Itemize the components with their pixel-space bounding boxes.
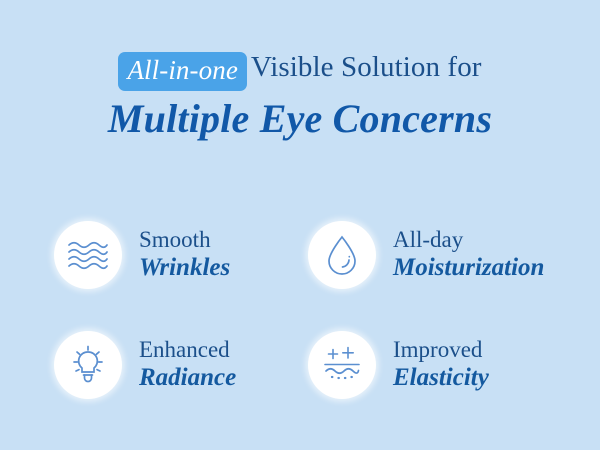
waves-icon — [67, 239, 109, 271]
feature-label-bottom: Elasticity — [393, 365, 489, 391]
headline-block: All-in-oneVisible Solution for Multiple … — [0, 48, 600, 143]
headline-line-2: Multiple Eye Concerns — [0, 95, 600, 143]
feature-label-bottom: Wrinkles — [139, 255, 230, 281]
feature-label-top: Improved — [393, 338, 489, 362]
feature-text-elasticity: Improved Elasticity — [393, 338, 489, 391]
feature-text-radiance: Enhanced Radiance — [139, 338, 236, 391]
feature-item-radiance: Enhanced Radiance — [54, 310, 300, 420]
lightbulb-icon — [68, 345, 108, 385]
feature-text-moisturization: All-day Moisturization — [393, 228, 544, 281]
icon-circle-moisturization — [308, 221, 376, 289]
feature-item-moisturization: All-day Moisturization — [308, 200, 554, 310]
promo-poster: All-in-oneVisible Solution for Multiple … — [0, 0, 600, 450]
feature-label-top: Smooth — [139, 228, 230, 252]
headline-line-1: All-in-oneVisible Solution for — [0, 48, 600, 88]
feature-text-wrinkles: Smooth Wrinkles — [139, 228, 230, 281]
feature-item-elasticity: Improved Elasticity — [308, 310, 554, 420]
icon-circle-radiance — [54, 331, 122, 399]
sparkle-skin-icon — [321, 346, 363, 384]
feature-item-wrinkles: Smooth Wrinkles — [54, 200, 300, 310]
headline-line-1-text: Visible Solution for — [251, 51, 482, 83]
water-drop-icon — [325, 234, 359, 276]
all-in-one-highlight-badge: All-in-one — [118, 52, 246, 91]
feature-grid: Smooth Wrinkles All-day Moisturization — [54, 200, 554, 420]
feature-label-bottom: Radiance — [139, 365, 236, 391]
icon-circle-wrinkles — [54, 221, 122, 289]
feature-label-top: Enhanced — [139, 338, 236, 362]
feature-label-bottom: Moisturization — [393, 255, 544, 281]
icon-circle-elasticity — [308, 331, 376, 399]
feature-label-top: All-day — [393, 228, 544, 252]
